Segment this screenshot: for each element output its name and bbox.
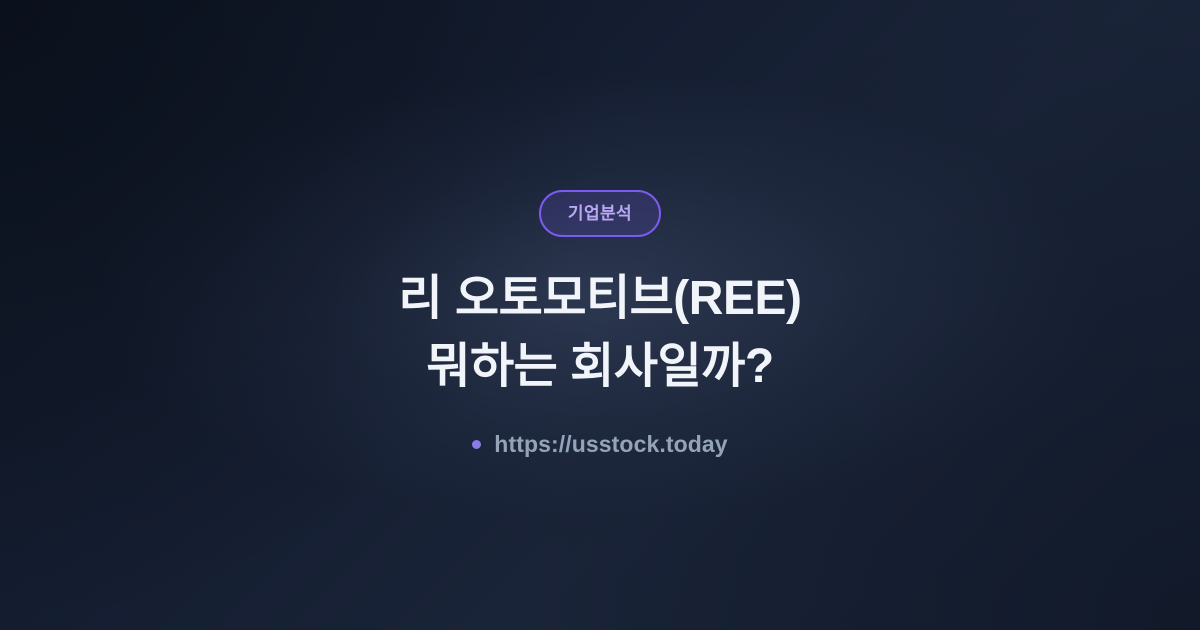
page-title-line-1: 리 오토모티브(REE) <box>100 265 1100 333</box>
site-url-row: https://usstock.today <box>472 433 727 456</box>
site-url-label: https://usstock.today <box>494 433 727 456</box>
category-badge: 기업분석 <box>539 190 661 237</box>
category-badge-label: 기업분석 <box>568 205 632 222</box>
card-content-stack: 기업분석 리 오토모티브(REE) 뭐하는 회사일까? https://usst… <box>0 0 1200 456</box>
page-title: 리 오토모티브(REE) 뭐하는 회사일까? <box>100 265 1100 401</box>
bullet-dot-icon <box>472 440 481 449</box>
page-title-line-2: 뭐하는 회사일까? <box>100 333 1100 401</box>
og-share-card: 기업분석 리 오토모티브(REE) 뭐하는 회사일까? https://usst… <box>0 0 1200 630</box>
